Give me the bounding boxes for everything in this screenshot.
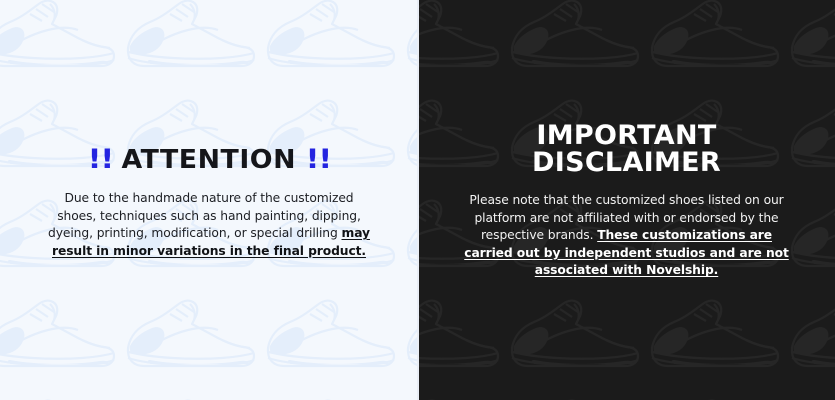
attention-heading: !! ATTENTION !! (44, 146, 374, 173)
attention-body-normal: Due to the handmade nature of the custom… (48, 191, 361, 240)
attention-panel: !! ATTENTION !! Due to the handmade natu… (0, 0, 418, 400)
exclamation-right-icon: !! (305, 146, 330, 173)
attention-title: ATTENTION (122, 147, 297, 173)
panel-divider (417, 0, 419, 400)
disclaimer-title-line2: DISCLAIMER (462, 149, 792, 176)
disclaimer-banner: !! ATTENTION !! Due to the handmade natu… (0, 0, 835, 400)
disclaimer-heading: IMPORTANT DISCLAIMER (462, 122, 792, 176)
attention-content: !! ATTENTION !! Due to the handmade natu… (44, 146, 374, 260)
attention-body: Due to the handmade nature of the custom… (44, 190, 374, 260)
exclamation-left-icon: !! (87, 146, 112, 173)
disclaimer-body: Please note that the customized shoes li… (462, 192, 792, 280)
disclaimer-panel: IMPORTANT DISCLAIMER Please note that th… (418, 0, 835, 400)
disclaimer-content: IMPORTANT DISCLAIMER Please note that th… (462, 122, 792, 280)
